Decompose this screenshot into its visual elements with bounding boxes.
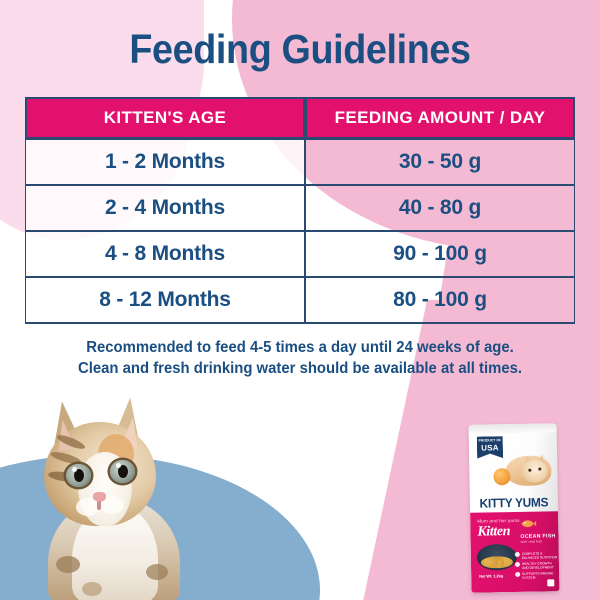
cell-age: 8 - 12 Months [25,277,305,324]
cell-amount: 90 - 100 g [305,231,575,277]
pack-top-fold [469,423,557,434]
pack-brand-name: KITTY YUMS [472,495,556,510]
pack-variant: Kitten [477,524,510,541]
kitten-eye-highlight [116,463,121,468]
feeding-table-wrapper: KITTEN'S AGE FEEDING AMOUNT / DAY 1 - 2 … [25,97,575,324]
kitten-mouth [97,501,101,510]
pack-kibble [481,556,513,569]
kitten-fur-spot [82,582,102,596]
pack-cat-eye [538,468,541,471]
table-body: 1 - 2 Months 30 - 50 g 2 - 4 Months 40 -… [25,139,575,324]
pack-lower-panel: Mum and her yums Kitten OCEAN FISH with … [470,511,559,593]
pack-benefit-bullet: COMPLETE & BALANCED NUTRITION [522,551,559,560]
bullet-dot-icon [515,572,520,577]
table-row: 8 - 12 Months 80 - 100 g [25,277,575,324]
cell-age: 4 - 8 Months [25,231,305,277]
kitten-fur-spot [56,556,80,573]
product-pack: PRODUCT OF USA KITTY YUMS Mum and her yu… [469,423,560,593]
fish-icon [520,518,536,530]
kitten-eye-highlight [72,467,77,472]
kitten-fur-spot [146,564,168,580]
pack-corner-mark-icon [547,579,554,586]
cell-amount: 80 - 100 g [305,277,575,324]
cell-age: 1 - 2 Months [25,139,305,185]
pack-food-bowl [477,544,517,571]
pack-benefit-text: HEALTHY GROWTH AND DEVELOPMENT [522,561,554,570]
table-row: 4 - 8 Months 90 - 100 g [25,231,575,277]
footnote-line-2: Clean and fresh drinking water should be… [12,358,588,379]
bullet-dot-icon [515,562,520,567]
bullet-dot-icon [515,552,520,557]
table-row: 2 - 4 Months 40 - 80 g [25,185,575,231]
pack-body: PRODUCT OF USA KITTY YUMS Mum and her yu… [469,423,560,593]
pack-cat-eye [528,469,531,472]
pack-kitten-image [491,449,554,494]
pack-toy-ball [493,468,510,485]
cell-age: 2 - 4 Months [25,185,305,231]
table-header: KITTEN'S AGE FEEDING AMOUNT / DAY [25,97,575,139]
column-header-amount: FEEDING AMOUNT / DAY [305,97,575,139]
cell-amount: 40 - 80 g [305,185,575,231]
cell-amount: 30 - 50 g [305,139,575,185]
pack-benefit-text: COMPLETE & BALANCED NUTRITION [522,552,558,560]
feeding-guidelines-poster: Feeding Guidelines KITTEN'S AGE FEEDING … [0,0,600,600]
page-title: Feeding Guidelines [24,26,576,73]
column-header-age: KITTEN'S AGE [25,97,305,139]
feeding-guidelines-table: KITTEN'S AGE FEEDING AMOUNT / DAY 1 - 2 … [25,97,575,324]
pack-flavour-sub: with real fish [521,540,543,544]
footnote: Recommended to feed 4-5 times a day unti… [12,337,588,379]
pack-net-weight: Net Wt. 1.2kg [479,574,503,578]
table-header-row: KITTEN'S AGE FEEDING AMOUNT / DAY [25,97,575,139]
table-row: 1 - 2 Months 30 - 50 g [25,139,575,185]
pack-benefit-bullet: HEALTHY GROWTH AND DEVELOPMENT [522,561,559,570]
kitten-photo [22,386,212,600]
footnote-line-1: Recommended to feed 4-5 times a day unti… [12,337,588,358]
pack-tagline: Mum and her yums [477,518,520,524]
